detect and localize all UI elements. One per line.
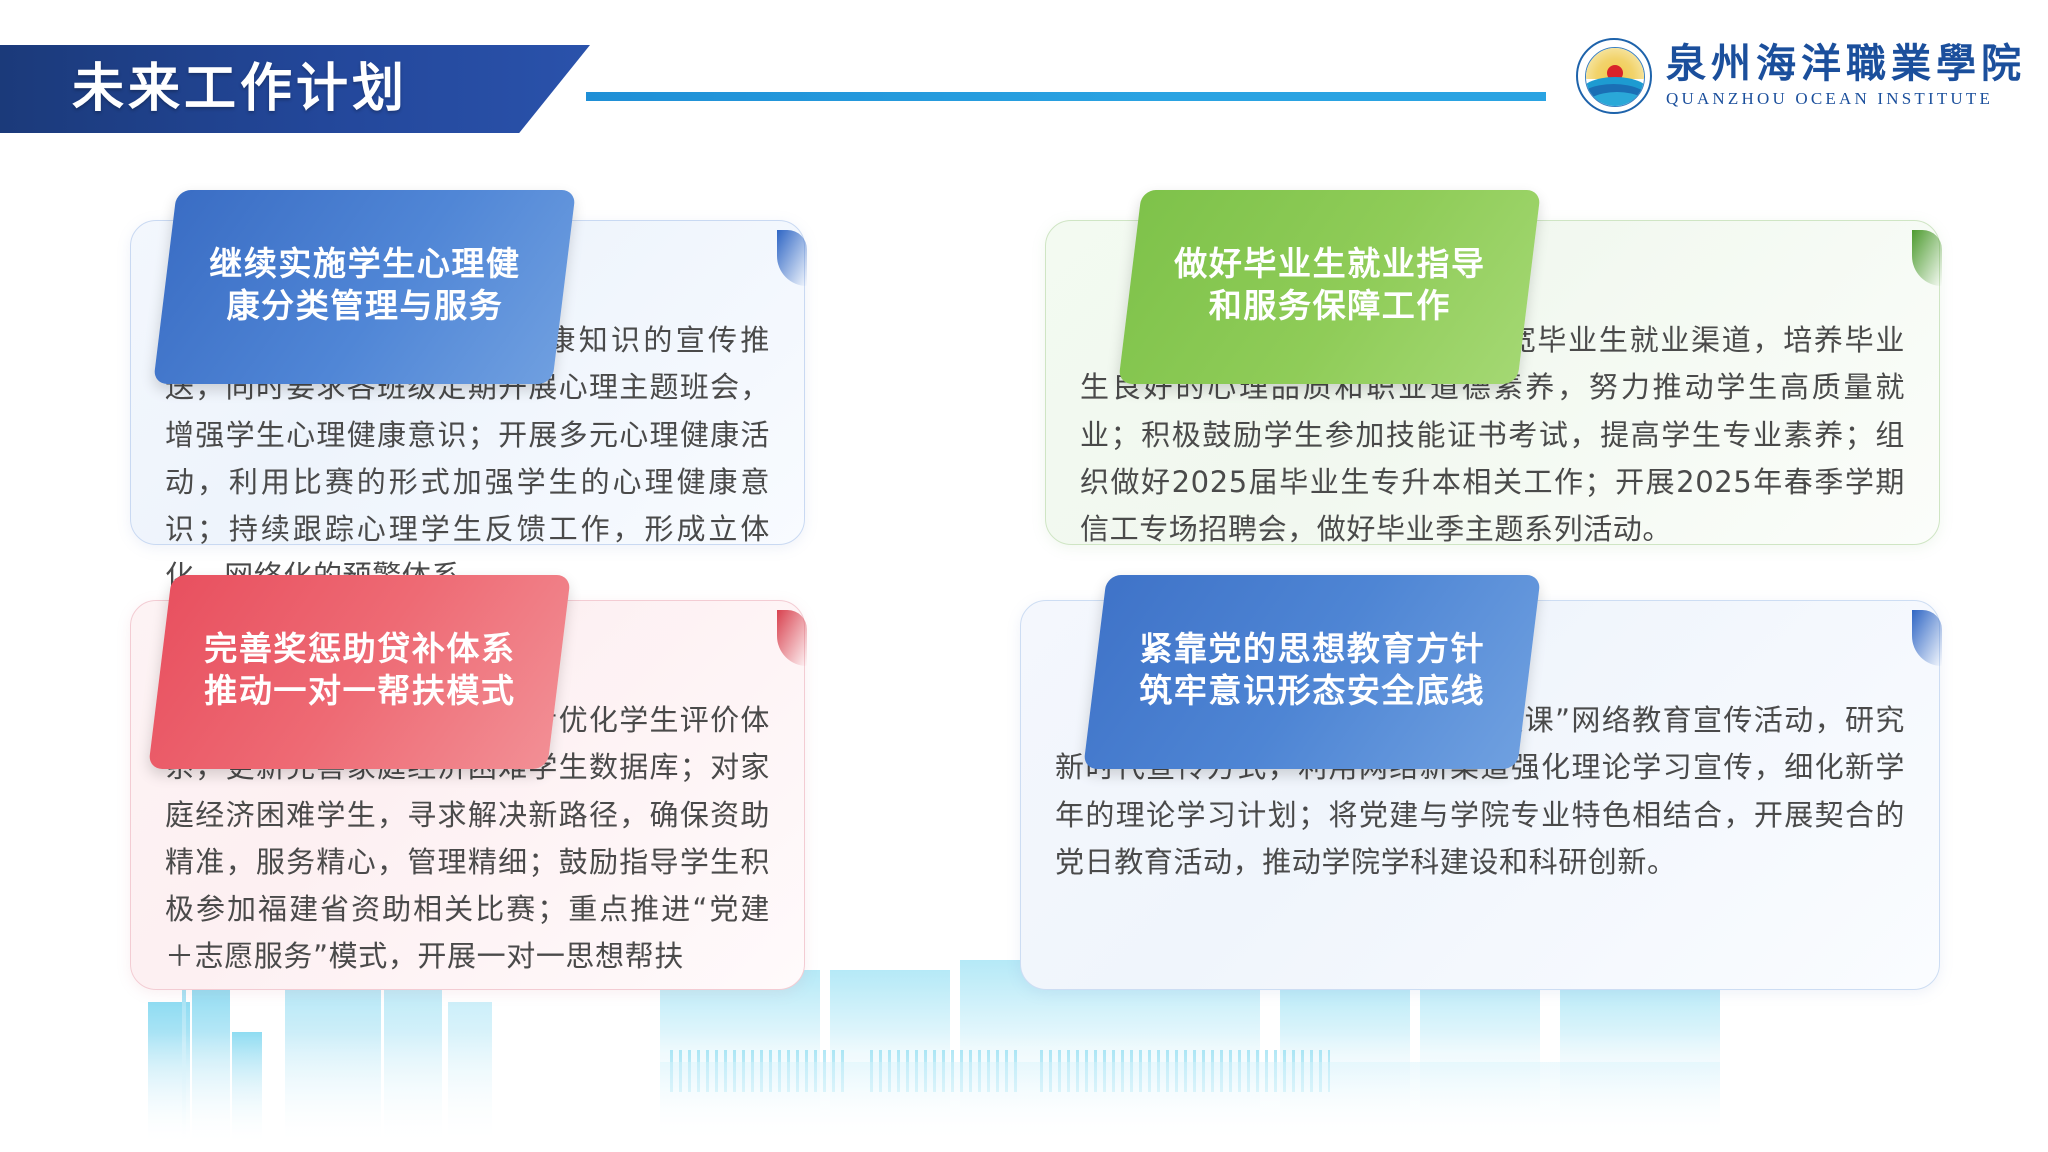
institute-logo: 泉州海洋職業學院 QUANZHOU OCEAN INSTITUTE (1576, 36, 2026, 116)
card-title-badge-1: 继续实施学生心理健 康分类管理与服务 (153, 190, 576, 384)
page-title: 未来工作计划 (72, 63, 408, 115)
page-header: 未来工作计划 泉州海洋職業學院 QUANZHOU OCEAN INSTITUTE (0, 0, 2048, 150)
logo-name-cn: 泉州海洋職業學院 (1666, 43, 2026, 85)
card-title-text-1: 继续实施学生心理健 康分类管理与服务 (209, 243, 520, 327)
card-title-text-2: 做好毕业生就业指导 和服务保障工作 (1174, 243, 1485, 327)
logo-name-en: QUANZHOU OCEAN INSTITUTE (1666, 89, 2026, 109)
title-accent-rule (586, 92, 1546, 101)
content-cards: 运用新媒体发布心理健康知识的宣传推送，同时要求各班级定期开展心理主题班会，增强学… (0, 0, 2048, 1152)
card-title-text-4: 紧靠党的思想教育方针 筑牢意识形态安全底线 (1139, 628, 1485, 712)
card-title-badge-3: 完善奖惩助贷补体系 推动一对一帮扶模式 (148, 575, 571, 769)
logo-text-group: 泉州海洋職業學院 QUANZHOU OCEAN INSTITUTE (1666, 43, 2026, 109)
sun-and-waves-circle-icon (1576, 38, 1652, 114)
card-title-text-3: 完善奖惩助贷补体系 推动一对一帮扶模式 (204, 628, 515, 712)
card-title-badge-4: 紧靠党的思想教育方针 筑牢意识形态安全底线 (1083, 575, 1541, 769)
card-title-badge-2: 做好毕业生就业指导 和服务保障工作 (1118, 190, 1541, 384)
title-banner: 未来工作计划 (0, 45, 590, 133)
